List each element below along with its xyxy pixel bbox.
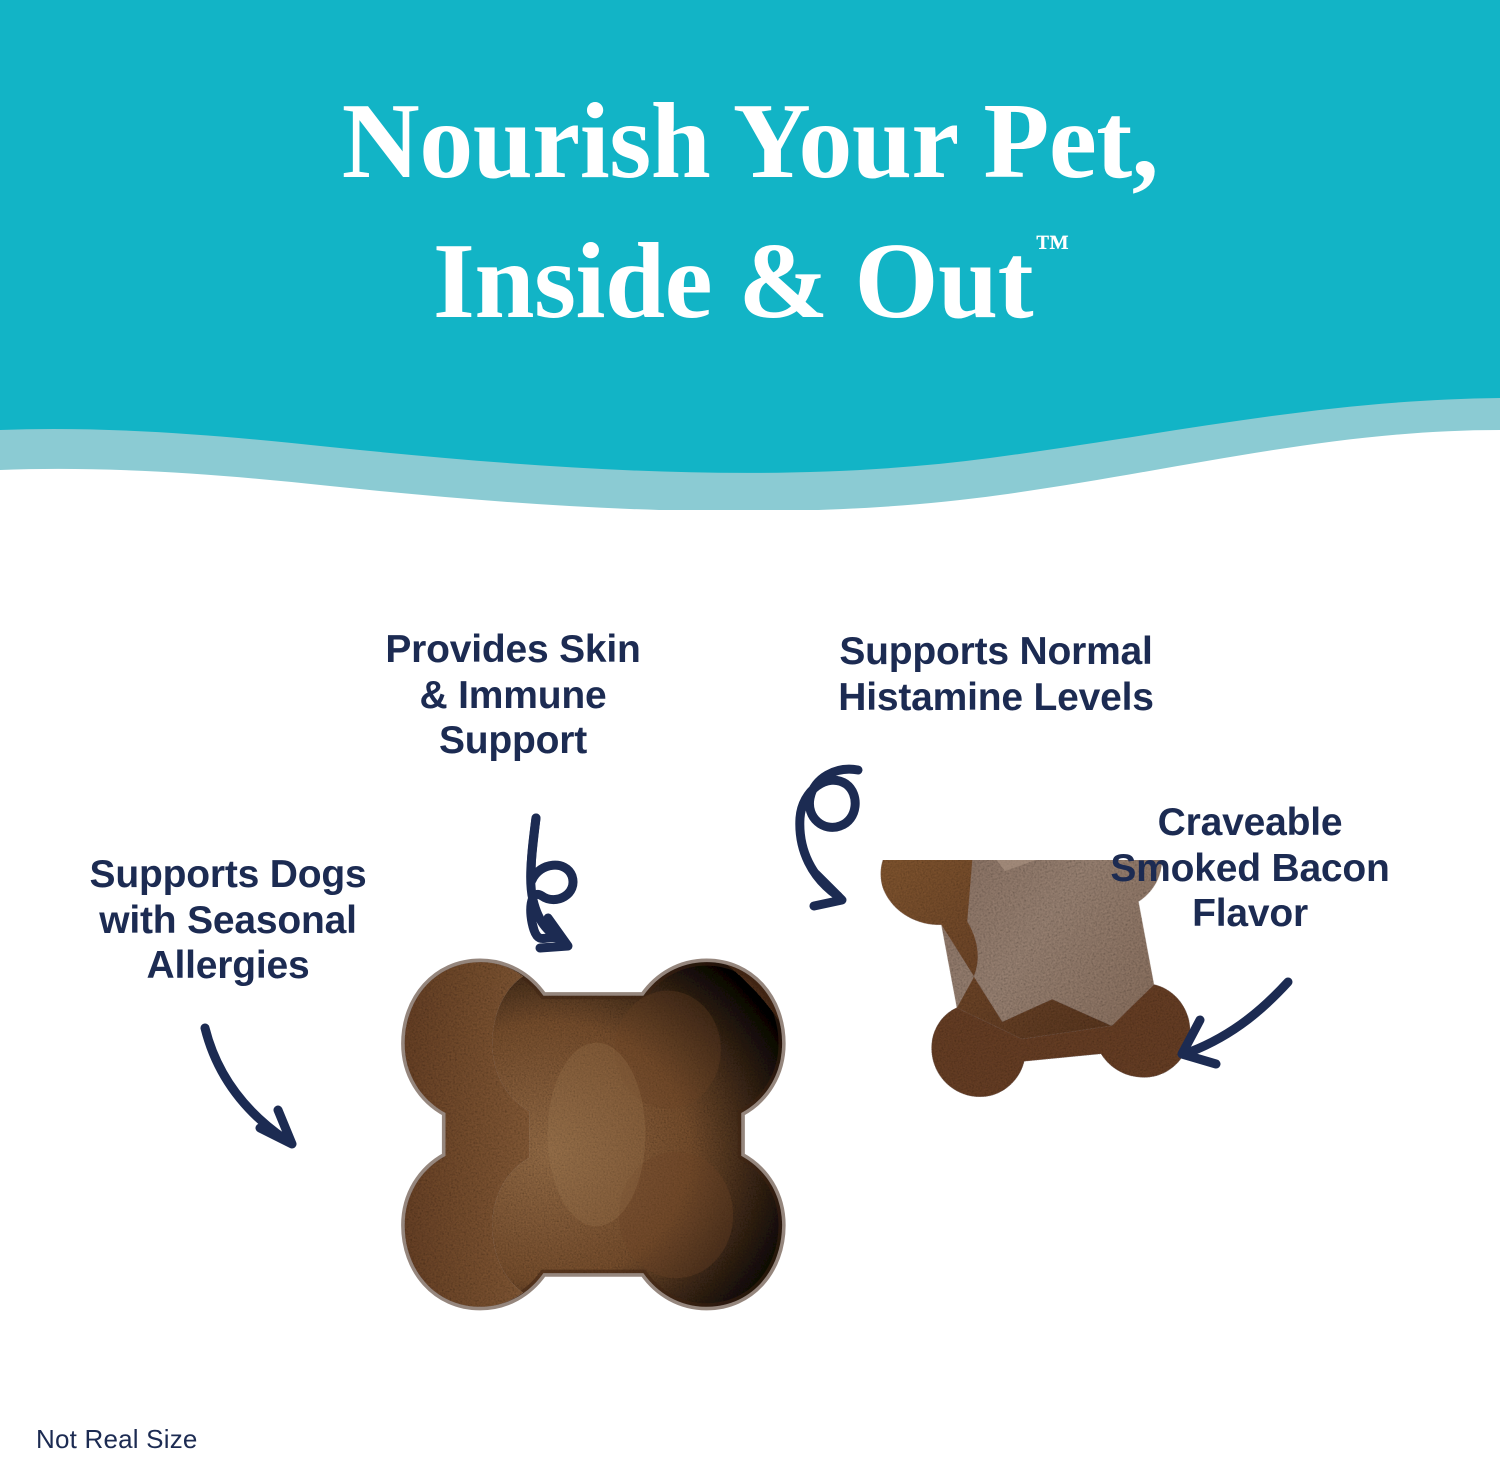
- callout-line: Flavor: [1040, 891, 1460, 937]
- callout-line: Support: [330, 718, 696, 764]
- callout-line: Craveable: [1040, 800, 1460, 846]
- callout-provides-skin-and-immune-support: Provides Skin & Immune Support: [330, 627, 696, 764]
- callout-supports-dogs-with-seasonal-allergies: Supports Dogs with Seasonal Allergies: [18, 852, 438, 989]
- callout-line: & Immune: [330, 673, 696, 719]
- callout-line: Supports Dogs: [18, 852, 438, 898]
- callout-supports-normal-histamine-levels: Supports Normal Histamine Levels: [756, 629, 1236, 720]
- header-banner: Nourish Your Pet, Inside & Out™: [0, 0, 1500, 510]
- trademark-symbol: ™: [1035, 229, 1069, 266]
- callout-line: Provides Skin: [330, 627, 696, 673]
- callout-line: Allergies: [18, 943, 438, 989]
- title-line-2-wrap: Inside & Out™: [0, 212, 1500, 352]
- callout-line: Histamine Levels: [756, 675, 1236, 721]
- callout-line: Smoked Bacon: [1040, 846, 1460, 892]
- callout-craveable-smoked-bacon-flavor: Craveable Smoked Bacon Flavor: [1040, 800, 1460, 937]
- page-title: Nourish Your Pet, Inside & Out™: [0, 72, 1500, 353]
- title-line-1: Nourish Your Pet,: [0, 72, 1500, 212]
- treat-front-flat: [405, 962, 782, 1307]
- title-line-2: Inside & Out: [433, 222, 1033, 341]
- treat-front-crumb-blob-c: [547, 1043, 645, 1227]
- callout-line: with Seasonal: [18, 898, 438, 944]
- not-real-size-disclaimer: Not Real Size: [36, 1424, 198, 1455]
- callout-line: Supports Normal: [756, 629, 1236, 675]
- curved-arrow-down-right-icon: [205, 1028, 292, 1144]
- product-feature-graphic: Nourish Your Pet, Inside & Out™: [0, 0, 1500, 1469]
